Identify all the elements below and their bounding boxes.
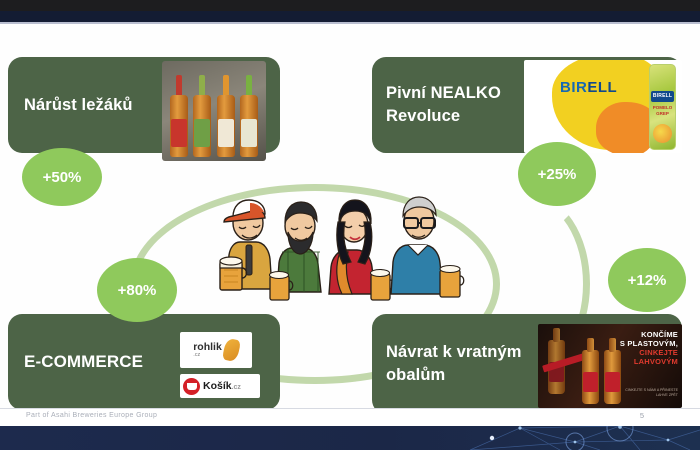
croissant-icon — [222, 338, 241, 363]
returnable-bottles-advert: KONČÍME S PLASTOVÝM, CINKEJTE LAHVOVÝM C… — [538, 324, 682, 408]
birell-wordmark: BIRELL — [560, 79, 617, 96]
advert-fine-print: CINKEJTE S NÁMI A PŘINESTE LAHVE ZPĚT — [618, 388, 678, 398]
badge-lezaky-percent: +50% — [22, 148, 102, 206]
birell-wordmark-part2: ELL — [587, 79, 617, 96]
grapefruit-icon — [653, 124, 672, 143]
beer-bottles-photo — [162, 61, 266, 161]
badge-nealko-percent: +25% — [518, 142, 596, 206]
birell-can-flavour: POMELO GREP — [651, 105, 674, 117]
slide-footer: Part of Asahi Breweries Europe Group 5 — [0, 408, 700, 426]
badge-ecommerce-percent: +80% — [97, 258, 177, 322]
rohlik-wordmark: rohlik .cz — [193, 342, 222, 358]
footer-text: Part of Asahi Breweries Europe Group — [26, 412, 157, 419]
network-graphic — [0, 426, 700, 450]
basket-icon — [183, 378, 200, 395]
birell-can: BIRELL POMELO GREP — [649, 64, 676, 150]
card-nealko-title: Pivní NEALKO Revoluce — [386, 82, 536, 128]
kosik-logo: Košík.cz — [180, 374, 260, 398]
glass-bottle — [582, 350, 599, 404]
beer-bottle — [193, 75, 211, 157]
birell-advert: BIRELL BIRELL POMELO GREP — [524, 60, 682, 153]
badge-vratne-percent: +12% — [608, 248, 686, 312]
birell-can-brand: BIRELL — [651, 91, 674, 102]
vratne-advert-copy: KONČÍME S PLASTOVÝM, CINKEJTE LAHVOVÝM — [612, 331, 678, 366]
slide-navy-header — [0, 11, 700, 22]
navy-bottom-strip — [0, 426, 700, 450]
card-lezaky-title: Nárůst ležáků — [24, 94, 133, 117]
window-top-bar — [0, 0, 700, 11]
page-number: 5 — [640, 411, 644, 420]
beer-bottle — [240, 75, 258, 157]
birell-wordmark-part1: BIR — [560, 79, 587, 96]
advert-line-4: LAHVOVÝM — [612, 358, 678, 367]
kosik-name: Košík — [203, 380, 232, 392]
slide-canvas: Nárůst ležáků +50% Pivní NEALKO Revoluce — [0, 24, 700, 408]
kosik-tld: .cz — [232, 384, 241, 391]
card-vratne-obaly-title: Návrat k vratným obalům — [386, 341, 551, 387]
beer-bottle — [170, 75, 188, 157]
kosik-wordmark: Košík.cz — [203, 380, 241, 392]
rohlik-logo: rohlik .cz — [180, 332, 252, 368]
presentation-slide: Nárůst ležáků +50% Pivní NEALKO Revoluce — [0, 0, 700, 450]
card-ecommerce-title: E-COMMERCE — [24, 350, 143, 373]
four-people-illustration — [212, 190, 490, 312]
rohlik-tld: .cz — [193, 353, 222, 359]
beer-bottle — [217, 75, 235, 157]
